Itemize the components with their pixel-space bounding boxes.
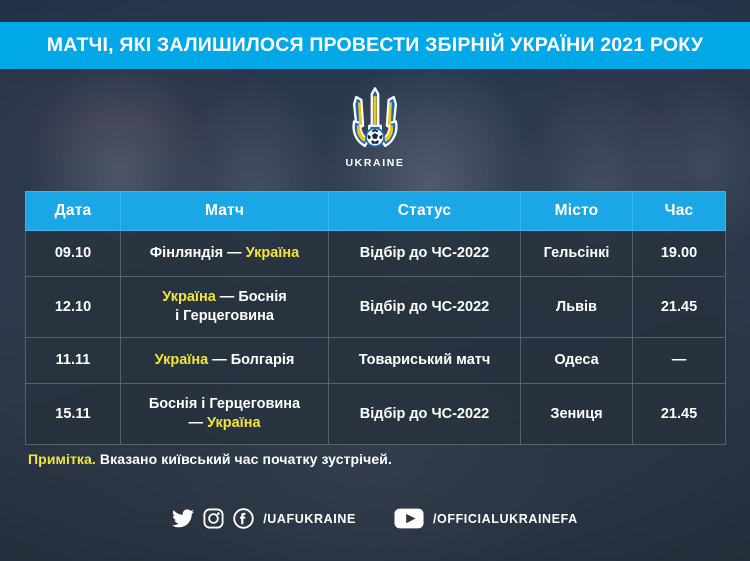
page-title: МАТЧІ, ЯКІ ЗАЛИШИЛОСЯ ПРОВЕСТИ ЗБІРНІЙ У… xyxy=(47,34,703,57)
match-text-post: — Болгарія xyxy=(208,352,294,368)
cell-date: 15.11 xyxy=(26,384,121,445)
column-header-time: Час xyxy=(633,192,726,231)
table-row: 09.10 Фінляндія — Україна Відбір до ЧС-2… xyxy=(26,231,726,277)
cell-time: 21.45 xyxy=(633,277,726,338)
cell-date: 09.10 xyxy=(26,231,121,277)
note-label: Примітка. xyxy=(28,451,96,467)
twitter-icon[interactable] xyxy=(172,509,194,528)
cell-match: Україна — Болгарія xyxy=(121,338,329,384)
table-header-row: Дата Матч Статус Місто Час xyxy=(26,192,726,231)
cell-city: Львів xyxy=(521,277,633,338)
poster-root: МАТЧІ, ЯКІ ЗАЛИШИЛОСЯ ПРОВЕСТИ ЗБІРНІЙ У… xyxy=(0,0,750,561)
match-schedule-table: Дата Матч Статус Місто Час 09.10 Фінлянд… xyxy=(25,191,726,445)
social-handle-uafukraine[interactable]: /UAFUKRAINE xyxy=(263,512,356,526)
instagram-icon[interactable] xyxy=(203,508,224,529)
column-header-city: Місто xyxy=(521,192,633,231)
facebook-icon[interactable] xyxy=(233,508,254,529)
note-line: Примітка. Вказано київський час початку … xyxy=(28,451,392,467)
cell-time: 19.00 xyxy=(633,231,726,277)
social-group-officialukrainefa: /OFFICIALUKRAINEFA xyxy=(394,508,578,529)
cell-status: Відбір до ЧС-2022 xyxy=(329,277,521,338)
cell-date: 12.10 xyxy=(26,277,121,338)
table-row: 12.10 Україна — Боснія і Герцеговина Від… xyxy=(26,277,726,338)
title-bar: МАТЧІ, ЯКІ ЗАЛИШИЛОСЯ ПРОВЕСТИ ЗБІРНІЙ У… xyxy=(0,22,750,69)
cell-match: Україна — Боснія і Герцеговина xyxy=(121,277,329,338)
cell-date: 11.11 xyxy=(26,338,121,384)
match-text-post: — Боснія xyxy=(216,289,287,305)
logo-block: UKRAINE xyxy=(0,84,750,169)
match-text-highlight: Україна xyxy=(155,352,209,368)
cell-status: Товариський матч xyxy=(329,338,521,384)
table-row: 15.11 Боснія і Герцеговина — Україна Від… xyxy=(26,384,726,445)
note-text: Вказано київський час початку зустрічей. xyxy=(96,451,392,467)
match-text-highlight: Україна xyxy=(246,245,300,261)
column-header-match: Матч xyxy=(121,192,329,231)
ukraine-trident-football-logo-icon xyxy=(339,84,411,156)
match-text-line2: і Герцеговина xyxy=(175,308,274,324)
social-handle-officialukrainefa[interactable]: /OFFICIALUKRAINEFA xyxy=(433,512,578,526)
match-text-pre: — xyxy=(188,415,207,431)
cell-city: Одеса xyxy=(521,338,633,384)
social-group-uafukraine: /UAFUKRAINE xyxy=(172,508,356,529)
cell-city: Гельсінкі xyxy=(521,231,633,277)
match-text-pre: Фінляндія — xyxy=(150,245,246,261)
match-text-highlight: Україна xyxy=(207,415,261,431)
cell-status: Відбір до ЧС-2022 xyxy=(329,384,521,445)
cell-city: Зениця xyxy=(521,384,633,445)
match-text-line1: Боснія і Герцеговина xyxy=(149,396,300,412)
cell-time: 21.45 xyxy=(633,384,726,445)
cell-status: Відбір до ЧС-2022 xyxy=(329,231,521,277)
match-text-highlight: Україна xyxy=(162,289,216,305)
cell-match: Фінляндія — Україна xyxy=(121,231,329,277)
logo-caption: UKRAINE xyxy=(345,157,404,169)
youtube-icon[interactable] xyxy=(394,508,424,529)
column-header-date: Дата xyxy=(26,192,121,231)
cell-match: Боснія і Герцеговина — Україна xyxy=(121,384,329,445)
table-row: 11.11 Україна — Болгарія Товариський мат… xyxy=(26,338,726,384)
column-header-status: Статус xyxy=(329,192,521,231)
social-footer: /UAFUKRAINE /OFFICIALUKRAINEFA xyxy=(0,508,750,529)
cell-time: — xyxy=(633,338,726,384)
